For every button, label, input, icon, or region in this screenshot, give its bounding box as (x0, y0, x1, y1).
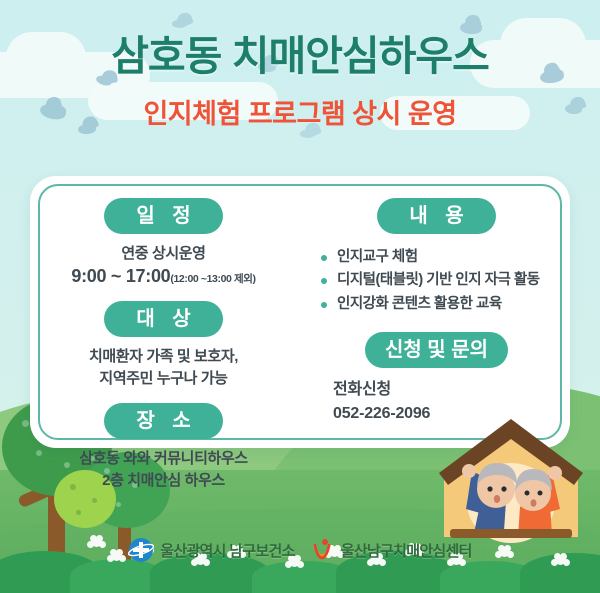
poster-subtitle: 인지체험 프로그램 상시 운영 (0, 92, 600, 131)
info-card: 일 정 연중 상시운영 9:00 ~ 17:00(12:00 ~13:00 제외… (30, 176, 570, 448)
schedule-pill-label: 일 정 (104, 198, 222, 234)
contents-list: 인지교구 체험 디지털(태블릿) 기반 인지 자극 활동 인지강화 콘텐츠 활용… (319, 246, 554, 316)
place-line1: 삼호동 와와 커뮤니티하우스 (46, 448, 281, 470)
contents-pill-label: 내 용 (377, 198, 495, 234)
place-pill-label: 장 소 (104, 403, 222, 439)
apply-pill-label: 신청 및 문의 (365, 332, 508, 368)
list-item: 인지교구 체험 (319, 246, 554, 269)
apply-line1: 전화신청 (333, 378, 554, 402)
list-item: 디지털(태블릿) 기반 인지 자극 활동 (319, 269, 554, 292)
logo-label: 울산남구치매안심센터 (341, 540, 472, 561)
card-right-column: 내 용 인지교구 체험 디지털(태블릿) 기반 인지 자극 활동 인지강화 콘텐… (297, 176, 570, 448)
logo-group-dementia-center: 울산남구치매안심센터 (309, 537, 472, 563)
footer-logos: 울산광역시 남구보건소 울산남구치매안심센터 (0, 537, 600, 563)
house-with-elderly-couple-illustration (436, 417, 586, 549)
card-left-column: 일 정 연중 상시운영 9:00 ~ 17:00(12:00 ~13:00 제외… (30, 176, 297, 448)
target-pill-label: 대 상 (104, 301, 222, 337)
dementia-center-heart-icon (309, 537, 335, 563)
logo-label: 울산광역시 남구보건소 (160, 540, 294, 561)
place-line2: 2층 치매안심 하우스 (46, 470, 281, 492)
logo-group-health-center: 울산광역시 남구보건소 (128, 537, 294, 563)
target-line1: 치매환자 가족 및 보호자, (46, 346, 281, 368)
health-center-cross-icon (128, 537, 154, 563)
schedule-time-value: 9:00 ~ 17:00 (71, 266, 170, 286)
target-line2: 지역주민 누구나 가능 (46, 368, 281, 390)
poster-title: 삼호동 치매안심하우스 (0, 22, 600, 82)
list-item: 인지강화 콘텐츠 활용한 교육 (319, 293, 554, 316)
poster-canvas: 삼호동 치매안심하우스 인지체험 프로그램 상시 운영 (0, 0, 600, 593)
schedule-time: 9:00 ~ 17:00(12:00 ~13:00 제외) (46, 266, 281, 287)
bird-icon (300, 130, 314, 138)
schedule-line1: 연중 상시운영 (46, 243, 281, 265)
schedule-time-note: (12:00 ~13:00 제외) (170, 273, 255, 285)
